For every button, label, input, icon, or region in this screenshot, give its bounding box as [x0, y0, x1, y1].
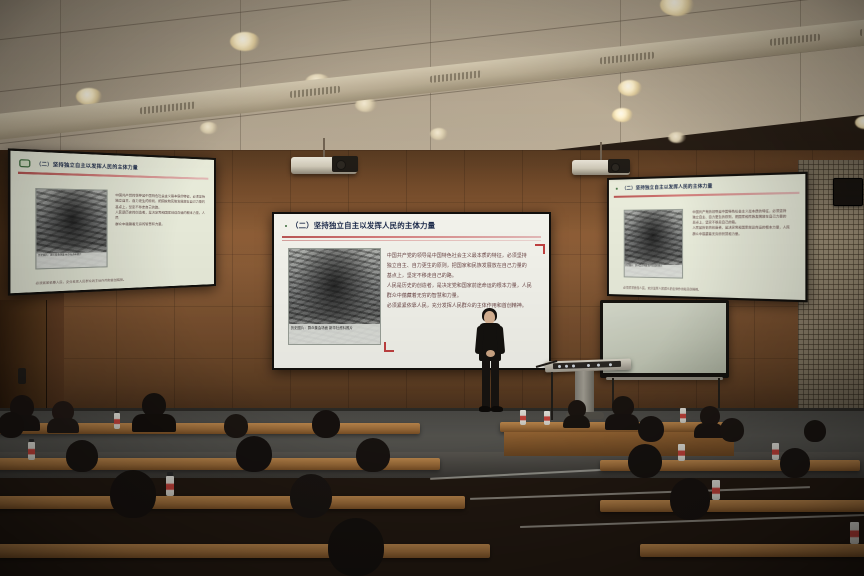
ceiling-downlight — [668, 132, 686, 143]
person-head — [224, 414, 248, 438]
water-bottle — [544, 411, 550, 425]
seat-row-front — [0, 536, 540, 576]
presenter-arm-right — [496, 326, 505, 355]
ceiling-downlight — [430, 128, 448, 140]
bottle-cap — [29, 439, 34, 442]
slide-photo-caption: 历史图片：群众集会场面 新华社资料照片 — [37, 252, 106, 268]
person-head — [628, 444, 662, 478]
person-head — [356, 438, 390, 472]
slide-corner-mark-bl — [384, 342, 394, 352]
water-bottle — [680, 408, 686, 423]
water-bottle — [520, 410, 526, 425]
slide-body-text: 中国共产党的领导是中国特色社会主义最本质的特征，必须坚持 独立自主、自力更生的原… — [387, 251, 538, 311]
side-screen-left: （二）坚持独立自主以发挥人民的主体力量 历史图片：群众集会场面 新华社资料照片 … — [8, 148, 216, 295]
person-head — [780, 448, 810, 478]
person-head — [0, 412, 24, 438]
presenter-leg-right — [491, 360, 499, 408]
ceiling-downlight — [200, 122, 218, 134]
slide-bullet-icon — [285, 225, 287, 227]
ceiling-downlight — [230, 32, 260, 51]
person-head — [290, 474, 332, 518]
slide-title: （二）坚持独立自主以发挥人民的主体力量 — [36, 160, 138, 170]
control-button[interactable] — [587, 363, 590, 366]
slide-footnote: 必须紧紧依靠人民，充分发挥人民群众的主体作用和首创精神。 — [623, 285, 794, 294]
auditorium-seat[interactable] — [560, 546, 660, 576]
slide-body-text: 中国共产党的领导是中国特色社会主义最本质的特征，必须坚持 独立自主、自力更生的原… — [115, 193, 205, 228]
person-head — [312, 410, 340, 438]
slide-bullet-icon — [616, 188, 618, 190]
person-head — [66, 440, 98, 472]
slide-title: （二）坚持独立自主以发挥人民的主体力量 — [291, 221, 435, 231]
control-button[interactable] — [597, 363, 600, 366]
person-head — [236, 436, 272, 472]
slide-historical-photo: 历史图片：群众集会场面 新华社资料照片 — [288, 248, 381, 345]
ceiling-downlight — [612, 108, 633, 122]
slide-bullet-icon — [20, 159, 31, 167]
slide-title: （二）坚持独立自主以发挥人民的主体力量 — [622, 183, 713, 192]
presenter-hands-holding-clicker — [486, 350, 495, 357]
slide-historical-photo: 历史图片：群众集会场面 新华社资料照片 — [623, 209, 683, 279]
control-button[interactable] — [565, 364, 568, 367]
person-head — [670, 478, 710, 520]
bottle-cap — [115, 410, 119, 413]
projector-lens-left — [336, 160, 346, 170]
bottle-cap — [167, 472, 173, 476]
control-button[interactable] — [572, 364, 575, 367]
slide-body-text: 中国共产党的领导是中国特色社会主义最本质的特征，必须坚持 独立自主、自力更生的原… — [692, 208, 794, 237]
presenter-leg-left — [482, 360, 490, 408]
auditorium-seat[interactable] — [0, 542, 44, 576]
presenter-shoe-left — [479, 406, 491, 412]
slide-photo-caption: 历史图片：群众集会场面 新华社资料照片 — [624, 264, 682, 277]
auditorium-seat[interactable] — [156, 541, 260, 576]
person-head — [720, 418, 744, 442]
lecture-hall-photo: （二）坚持独立自主以发挥人民的主体力量 历史图片：群众集会场面 新华社资料照片 … — [0, 0, 864, 576]
slide-corner-mark-tr — [535, 244, 545, 254]
slide-photo-caption: 历史图片：群众集会场面 新华社资料照片 — [289, 324, 380, 344]
auditorium-seat[interactable] — [664, 546, 764, 576]
person-head — [804, 420, 826, 442]
person-head — [638, 416, 664, 442]
ceiling-downlight — [855, 116, 864, 129]
seat-row-front-right — [560, 540, 864, 576]
person-head — [328, 518, 384, 576]
auditorium-seat[interactable] — [768, 545, 864, 576]
person-head — [110, 470, 156, 518]
auditorium-seat[interactable] — [48, 542, 152, 576]
control-button[interactable] — [609, 363, 612, 366]
side-screen-right: （二）坚持独立自主以发挥人民的主体力量 历史图片：群众集会场面 新华社资料照片 … — [607, 172, 808, 303]
slide-footnote: 必须紧紧依靠人民，充分发挥人民群众的主体作用和首创精神。 — [36, 274, 205, 285]
ceiling-downlight — [618, 80, 642, 96]
control-button[interactable] — [558, 364, 561, 367]
whiteboard-marker-tray — [606, 377, 723, 380]
lectern-control-panel[interactable] — [553, 361, 621, 369]
projector-lens-right — [611, 163, 620, 172]
slide-historical-photo: 历史图片：群众集会场面 新华社资料照片 — [36, 188, 107, 269]
